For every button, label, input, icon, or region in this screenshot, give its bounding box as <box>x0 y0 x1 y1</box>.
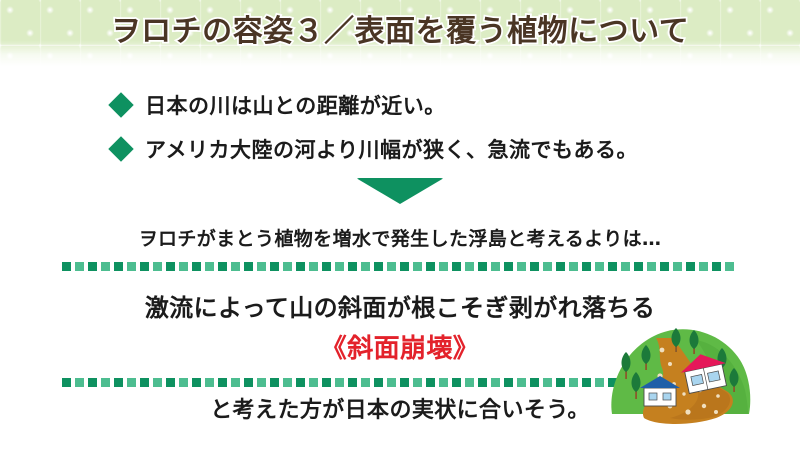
landslide-illustration <box>600 318 760 428</box>
mid-statement-text: ヲロチがまとう植物を増水で発生した浮島と考えるよりは… <box>0 224 800 251</box>
page-title: ヲロチの容姿３／表面を覆う植物について <box>0 6 800 50</box>
list-item-label: アメリカ大陸の河より川幅が狭く、急流でもある。 <box>145 134 638 164</box>
diamond-icon <box>108 136 133 161</box>
arrow-down-icon <box>356 178 444 204</box>
bullet-list: 日本の川は山との距離が近い。 アメリカ大陸の河より川幅が狭く、急流でもある。 <box>112 86 772 174</box>
dashed-square-rule-top <box>62 262 738 271</box>
list-item-label: 日本の川は山との距離が近い。 <box>145 90 446 120</box>
landslide-illustration-svg <box>600 318 760 428</box>
list-item: 日本の川は山との距離が近い。 <box>112 86 772 124</box>
list-item: アメリカ大陸の河より川幅が狭く、急流でもある。 <box>112 130 772 168</box>
diamond-icon <box>108 92 133 117</box>
slide-canvas: ヲロチの容姿３／表面を覆う植物について 日本の川は山との距離が近い。 アメリカ大… <box>0 0 800 450</box>
